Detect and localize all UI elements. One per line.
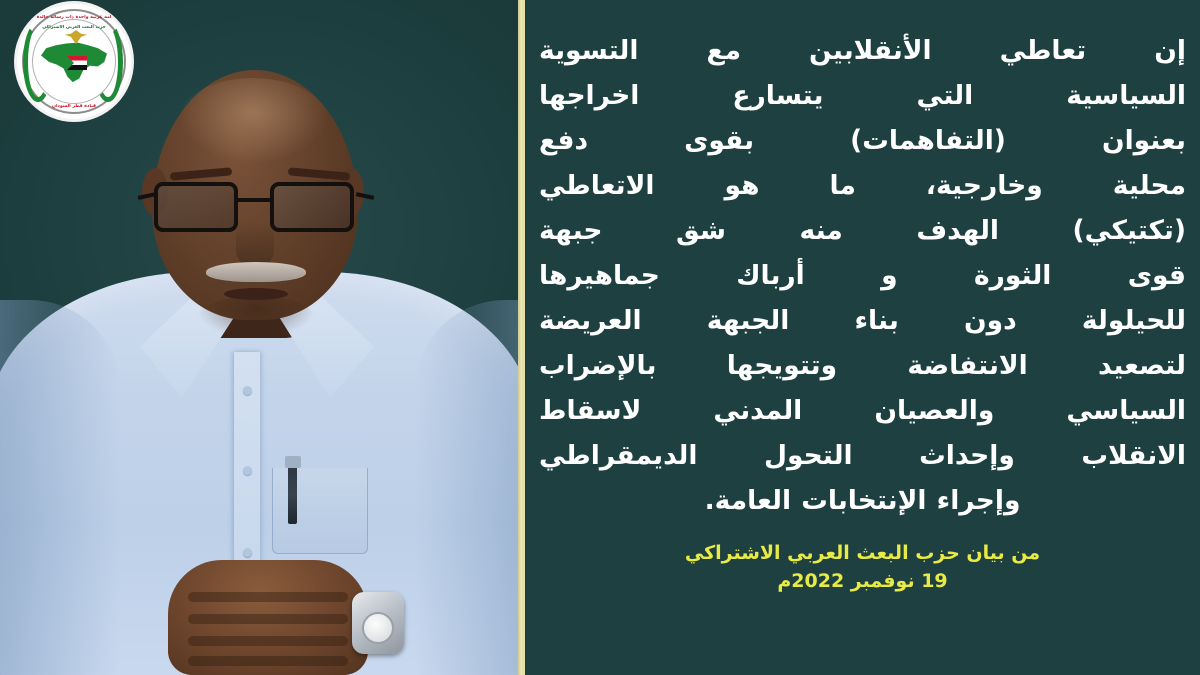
shirt-button — [243, 386, 252, 395]
statement-line: السياسية التي يتسارع اخراجها — [539, 73, 1186, 118]
finger — [188, 656, 348, 666]
chin-shadow — [198, 296, 314, 338]
statement-card: أمة عربية واحدة ذات رسالة خالدة حزب البع… — [0, 0, 1200, 675]
attribution-block: من بيان حزب البعث العربي الاشتراكي 19 نو… — [539, 539, 1186, 595]
statement-text: إن تعاطي الأنقلابين مع التسوية السياسية … — [539, 14, 1186, 523]
statement-line: وإجراء الإنتخابات العامة. — [539, 478, 1186, 523]
statement-line: قوى الثورة و أرباك جماهيرها — [539, 253, 1186, 298]
statement-line: السياسي والعصيان المدني لاسقاط — [539, 388, 1186, 433]
finger — [188, 592, 348, 602]
logo-ring-text-top: أمة عربية واحدة ذات رسالة خالدة — [17, 15, 131, 20]
logo-ring-text-bottom: قيادة قطر السودان — [17, 104, 131, 109]
lens-left — [154, 182, 238, 232]
mustache — [206, 262, 306, 282]
statement-line: الانقلاب وإحداث التحول الديمقراطي — [539, 433, 1186, 478]
finger — [188, 636, 348, 646]
attribution-source: من بيان حزب البعث العربي الاشتراكي — [539, 539, 1186, 567]
statement-line: للحيلولة دون بناء الجبهة العريضة — [539, 298, 1186, 343]
watch-face — [362, 612, 394, 644]
shirt-shadow-left — [0, 300, 120, 675]
party-logo[interactable]: أمة عربية واحدة ذات رسالة خالدة حزب البع… — [17, 4, 131, 119]
glasses-bridge — [236, 198, 274, 202]
glasses-temple-right — [356, 192, 374, 200]
finger — [188, 614, 348, 624]
attribution-date: 19 نوفمبر 2022م — [539, 567, 1186, 595]
head-highlight — [178, 78, 328, 164]
shirt-button — [243, 548, 252, 557]
logo-ring-text-middle: حزب البعث العربي الاشتراكي — [17, 25, 131, 30]
text-panel: إن تعاطي الأنقلابين مع التسوية السياسية … — [525, 0, 1200, 675]
portrait-panel: أمة عربية واحدة ذات رسالة خالدة حزب البع… — [0, 0, 521, 675]
statement-line: (تكتيكي) الهدف منه شق جبهة — [539, 208, 1186, 253]
pen-clip-icon — [285, 456, 301, 468]
statement-line: إن تعاطي الأنقلابين مع التسوية — [539, 28, 1186, 73]
chest-pocket — [272, 468, 368, 554]
shirt-button — [243, 466, 252, 475]
shirt-shadow-right — [415, 300, 521, 675]
statement-line: لتصعيد الانتفاضة وتتويجها بالإضراب — [539, 343, 1186, 388]
vertical-gold-divider — [518, 0, 525, 675]
statement-line: بعنوان (التفاهمات) بقوى دفع — [539, 118, 1186, 163]
lens-right — [270, 182, 354, 232]
statement-line: محلية وخارجية، ما هو الاتعاطي — [539, 163, 1186, 208]
sudan-flag-icon — [67, 56, 87, 70]
